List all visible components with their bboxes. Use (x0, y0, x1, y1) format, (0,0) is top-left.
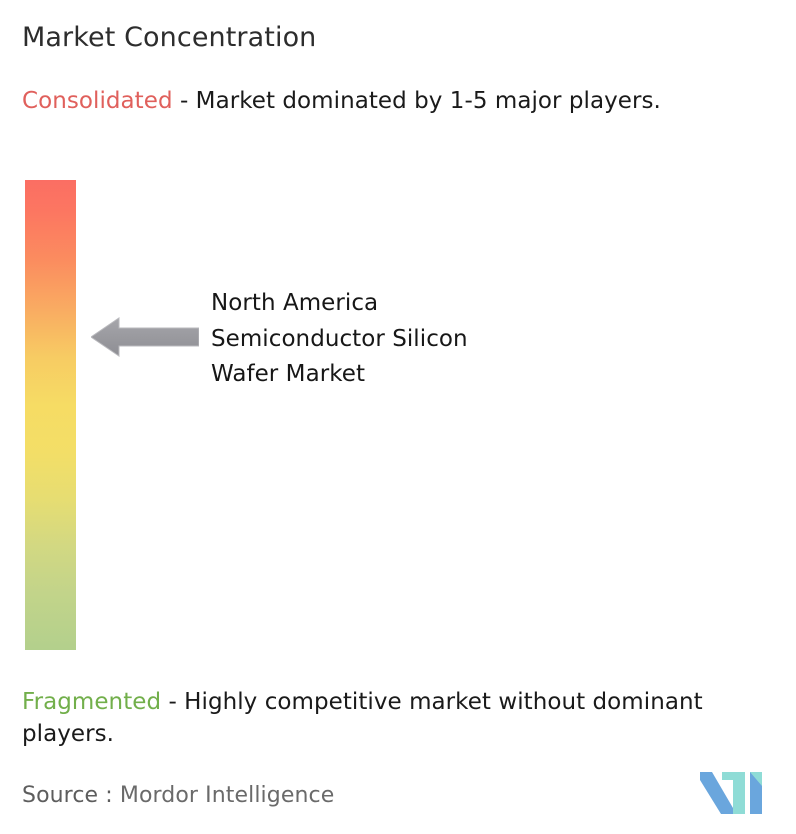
source-attribution: Source : Mordor Intelligence (22, 781, 334, 811)
legend-consolidated-description: - Market dominated by 1-5 major players. (173, 88, 661, 114)
legend-fragmented-keyword: Fragmented (22, 689, 161, 715)
market-label: North AmericaSemiconductor SiliconWafer … (211, 286, 591, 393)
mordor-intelligence-logo-icon (700, 772, 766, 814)
legend-consolidated-keyword: Consolidated (22, 88, 173, 114)
concentration-gradient-bar (25, 180, 76, 650)
market-concentration-infographic: Market Concentration Consolidated - Mark… (0, 0, 796, 834)
mordor-intelligence-logo (700, 772, 766, 814)
source-value: Mordor Intelligence (120, 783, 334, 808)
page-title: Market Concentration (22, 20, 316, 56)
left-arrow-icon (91, 316, 199, 358)
legend-fragmented: Fragmented - Highly competitive market w… (22, 686, 792, 750)
market-position-arrow (91, 316, 199, 358)
market-label-line-1: North America (211, 290, 378, 316)
source-label: Source : (22, 783, 120, 808)
legend-consolidated: Consolidated - Market dominated by 1-5 m… (22, 85, 762, 117)
market-label-line-3: Wafer Market (211, 361, 365, 387)
market-label-line-2: Semiconductor Silicon (211, 326, 468, 352)
